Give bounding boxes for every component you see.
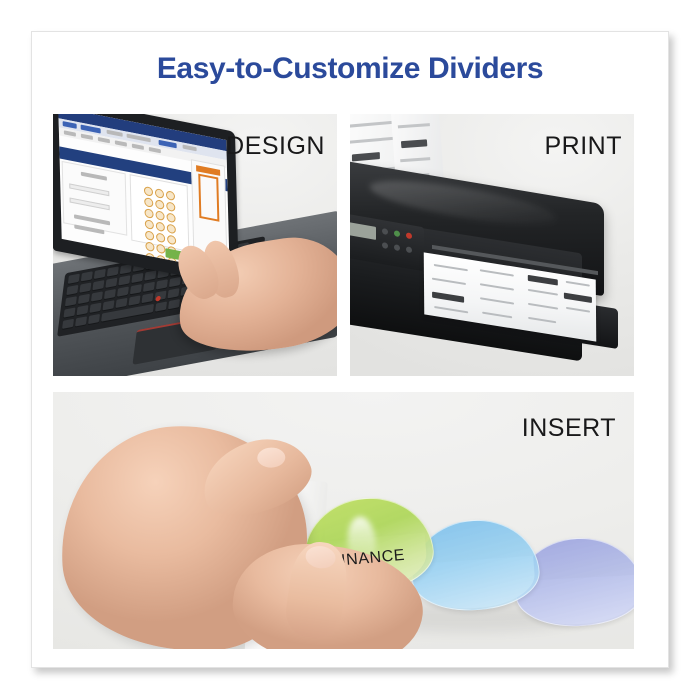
- trackpoint-icon: [155, 296, 161, 302]
- app-options-panel: [62, 161, 128, 236]
- page-title: Easy-to-Customize Dividers: [32, 52, 668, 86]
- product-card: Easy-to-Customize Dividers: [31, 31, 669, 668]
- panel-label-insert: INSERT: [522, 414, 616, 443]
- panel-label-print: PRINT: [545, 132, 623, 161]
- panel-design: DESIGN: [53, 114, 337, 376]
- panel-insert: FINANCE INSERT: [53, 392, 634, 649]
- printer-lcd-screen: [350, 222, 376, 240]
- panel-print: PRINT: [350, 114, 634, 376]
- laptop-screen: [58, 114, 229, 272]
- product-image-canvas: Easy-to-Customize Dividers: [0, 0, 700, 700]
- app-design-canvas: [130, 174, 190, 252]
- panel-label-design: DESIGN: [226, 132, 325, 161]
